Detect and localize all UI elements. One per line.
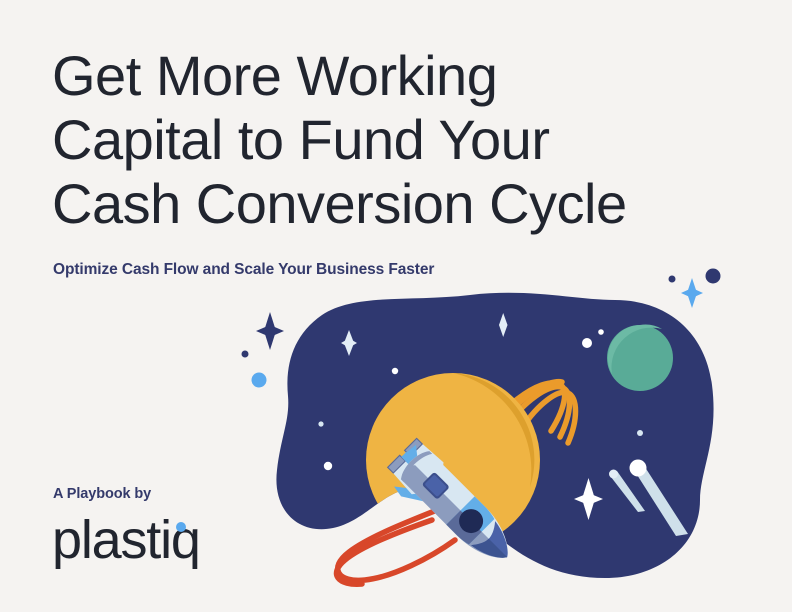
planet-rings-outer xyxy=(500,382,562,425)
byline-label: A Playbook by xyxy=(53,486,151,502)
yellow-planet xyxy=(366,373,540,547)
comets xyxy=(609,460,688,537)
navy-blob xyxy=(276,293,713,578)
sparkle-large-bottom xyxy=(574,478,603,520)
green-planet xyxy=(607,325,673,391)
rocket-boosters xyxy=(386,437,449,500)
stars xyxy=(318,329,643,470)
logo-wordmark: plastiq xyxy=(52,510,200,570)
sparkles-left xyxy=(242,312,285,388)
rocket xyxy=(380,437,523,580)
sparkles-top-right xyxy=(669,269,721,309)
page-subtitle: Optimize Cash Flow and Scale Your Busine… xyxy=(53,260,434,280)
cover-page: Get More Working Capital to Fund Your Ca… xyxy=(0,0,792,612)
page-title: Get More Working Capital to Fund Your Ca… xyxy=(52,44,692,236)
rocket-trail xyxy=(337,506,455,584)
logo-dot-icon xyxy=(176,522,186,532)
planet-rings xyxy=(489,383,576,443)
plastiq-logo: plastiq xyxy=(50,510,260,572)
sparkles xyxy=(341,313,508,356)
